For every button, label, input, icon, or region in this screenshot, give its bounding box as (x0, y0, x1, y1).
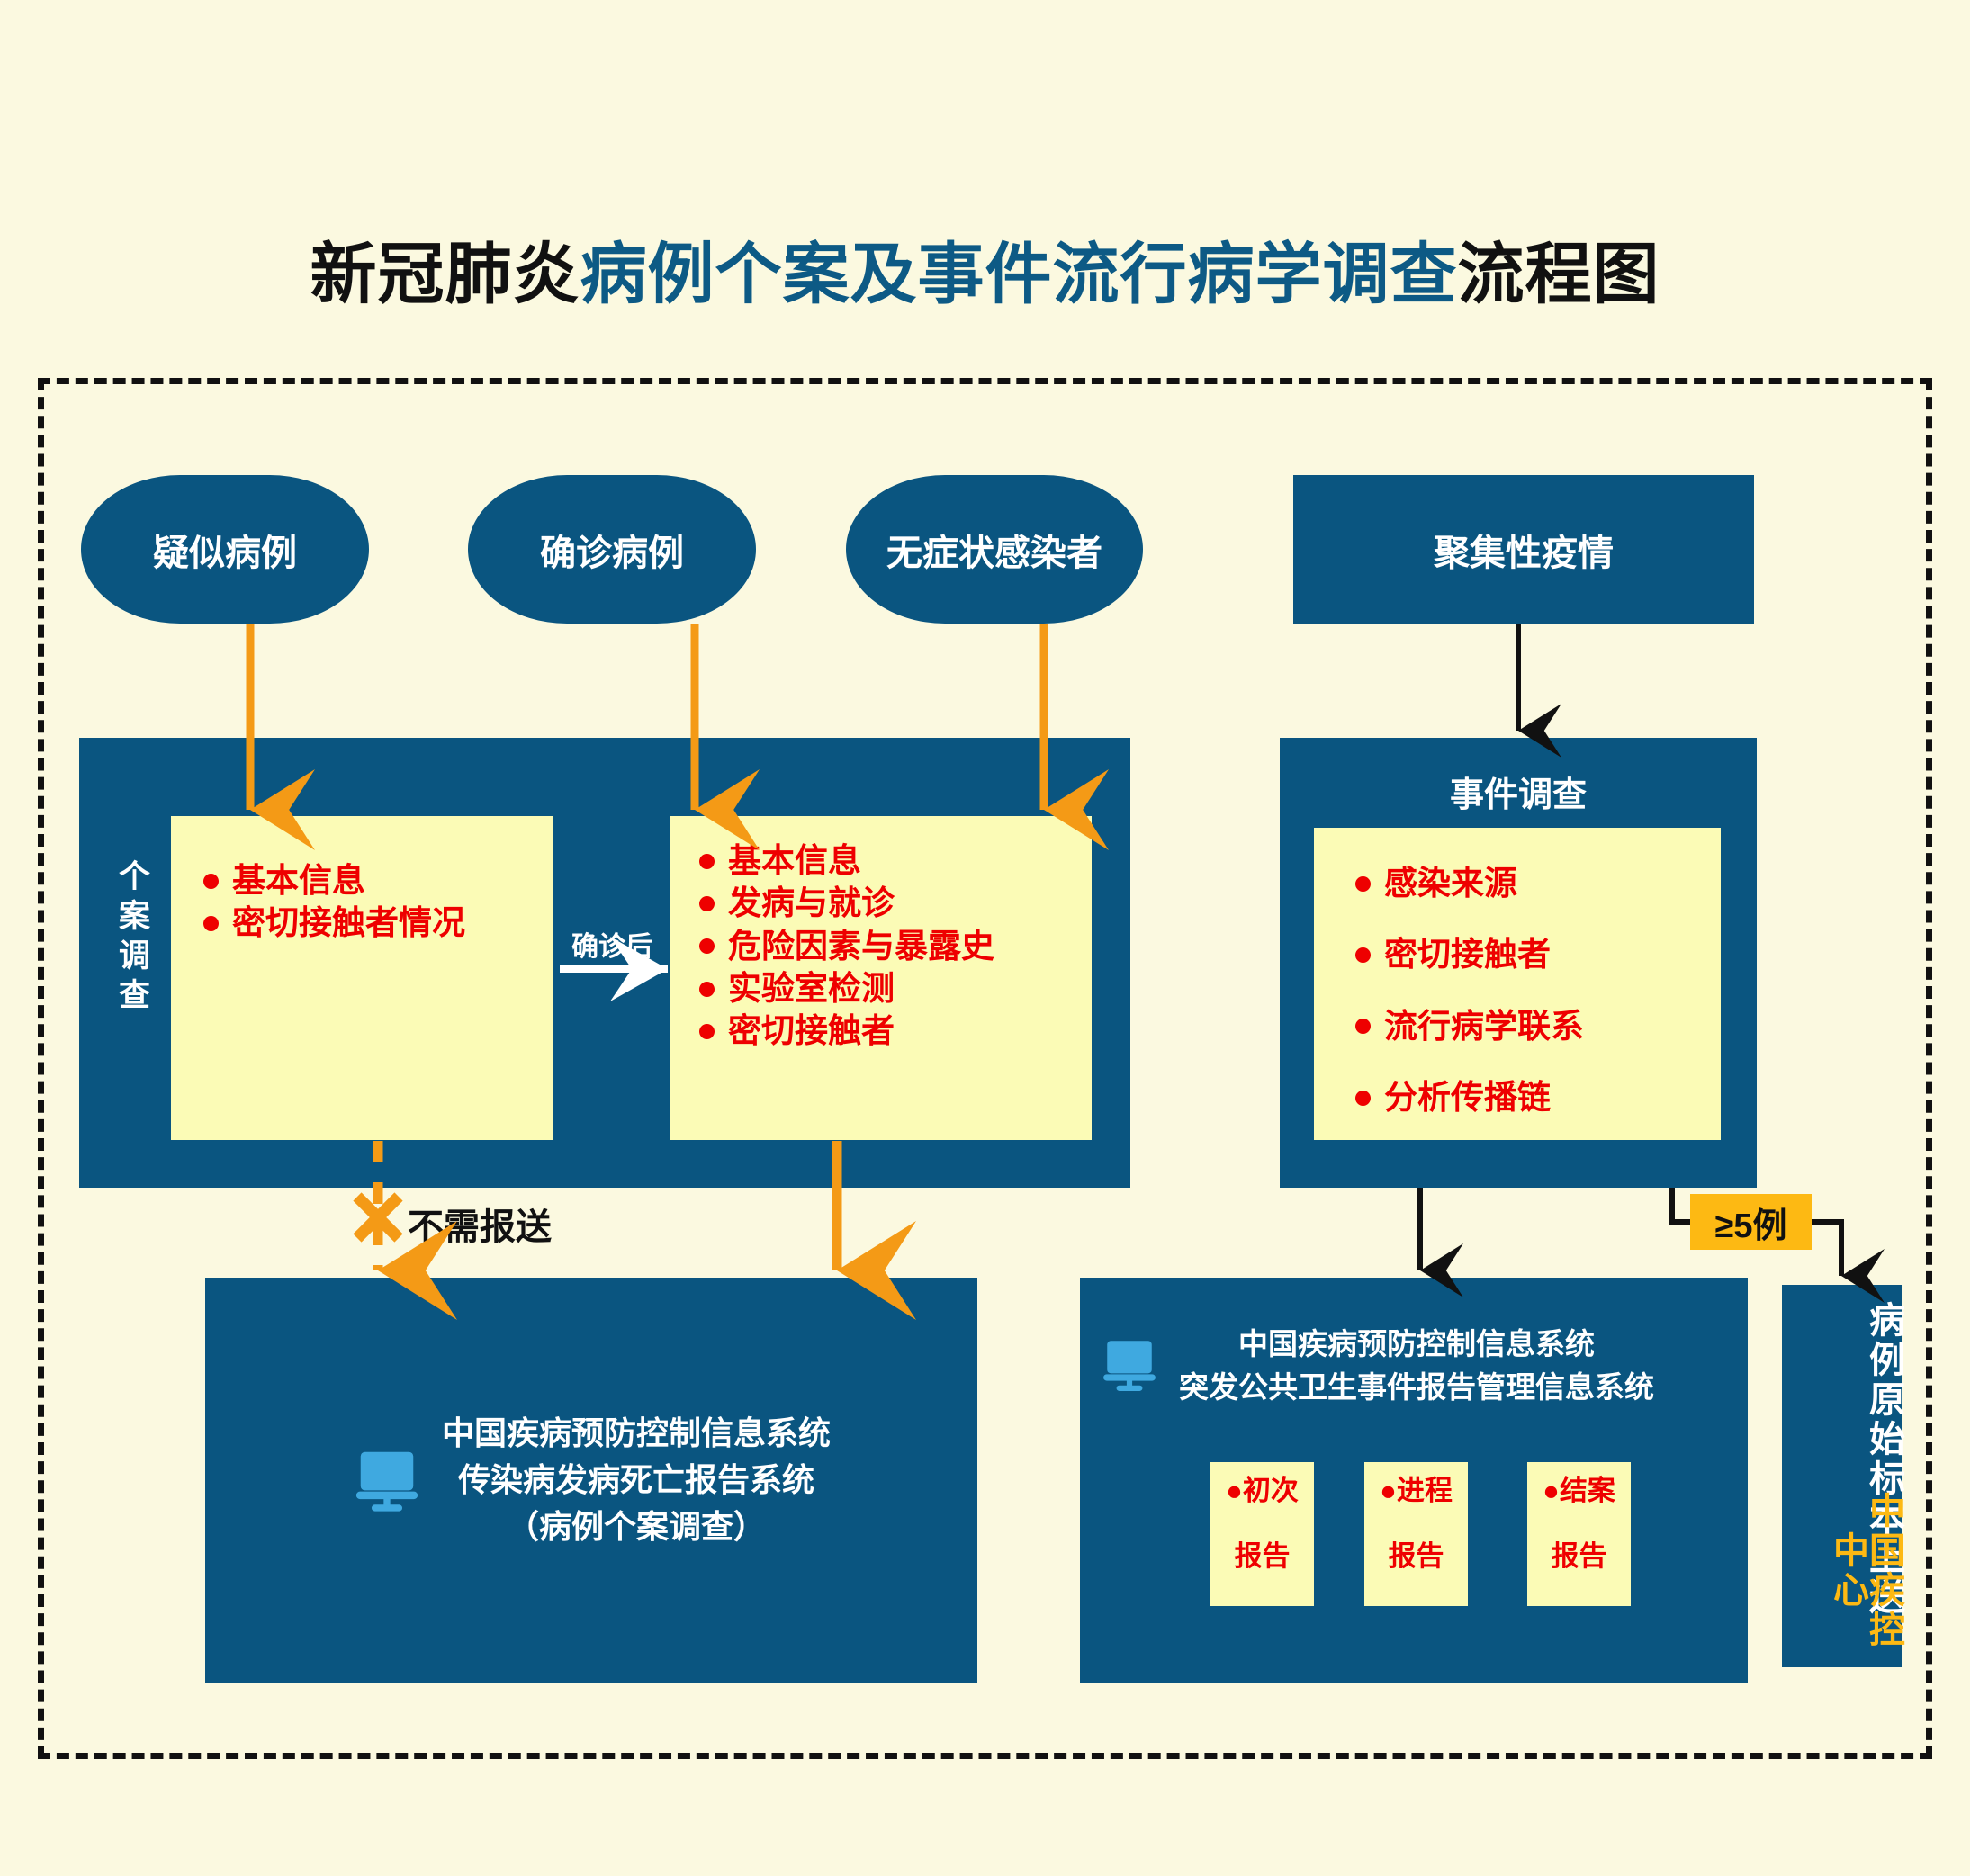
case-reporting-system-line-2: 传染病发病死亡报告系统 (458, 1461, 814, 1498)
report-card-closing[interactable]: ●结案 报告 (1527, 1462, 1631, 1606)
list-item: 密切接触者 (1354, 933, 1721, 975)
threshold-badge: ≥5例 (1690, 1194, 1812, 1250)
event-reporting-system-line-1: 中国疾病预防控制信息系统 (1238, 1327, 1595, 1360)
event-reporting-system-content: 中国疾病预防控制信息系统 突发公共卫生事件报告管理信息系统 (1100, 1323, 1654, 1409)
event-reporting-system-line-2: 突发公共卫生事件报告管理信息系统 (1179, 1370, 1654, 1404)
page-title: 新冠肺炎病例个案及事件流行病学调查流程图 (0, 220, 1970, 317)
list-item: 流行病学联系 (1354, 1005, 1721, 1047)
event-investigation-items: 感染来源 密切接触者 流行病学联系 分析传播链 (1354, 862, 1721, 1118)
node-asymptomatic-carrier[interactable]: 无症状感染者 (846, 475, 1143, 624)
report-card-progress[interactable]: ●进程 报告 (1364, 1462, 1468, 1606)
node-asymptomatic-carrier-label: 无症状感染者 (886, 524, 1102, 576)
report-card-initial-line-2: 报告 (1226, 1540, 1299, 1574)
no-report-note-label: 不需报送 (408, 1198, 552, 1250)
suspected-case-items: 基本信息 密切接触者情况 (202, 859, 553, 945)
event-investigation-title: 事件调查 (1280, 767, 1757, 816)
report-card-closing-text: ●结案 报告 (1543, 1475, 1615, 1574)
report-card-closing-line-1: ●结案 (1543, 1475, 1615, 1508)
node-confirmed-case[interactable]: 确诊病例 (468, 475, 756, 624)
node-cluster-outbreak[interactable]: 聚集性疫情 (1293, 475, 1754, 624)
specimen-upload-gold-text: 中国疾控中心 (1782, 1474, 1902, 1667)
case-reporting-system-text: 中国疾病预防控制信息系统 传染病发病死亡报告系统 （病例个案调查） (442, 1410, 831, 1551)
node-cluster-outbreak-label: 聚集性疫情 (1434, 524, 1614, 576)
list-item: 发病与就诊 (697, 882, 1092, 924)
title-part-3: 流程图 (1458, 237, 1660, 311)
suspected-case-detail-box: 基本信息 密切接触者情况 (171, 816, 553, 1140)
report-card-initial-line-1: ●初次 (1226, 1475, 1299, 1508)
list-item: 感染来源 (1354, 862, 1721, 904)
monitor-icon (1100, 1333, 1159, 1397)
node-suspected-case-label: 疑似病例 (153, 524, 297, 576)
confirmed-case-detail-box: 基本信息 发病与就诊 危险因素与暴露史 实验室检测 密切接触者 (670, 816, 1092, 1140)
node-suspected-case[interactable]: 疑似病例 (81, 475, 369, 624)
case-reporting-system-line-3: （病例个案调查） (507, 1508, 766, 1545)
list-item: 基本信息 (202, 859, 553, 902)
report-card-initial[interactable]: ●初次 报告 (1210, 1462, 1314, 1606)
specimen-upload-column[interactable]: 病例原始标本上送 中国疾控中心 (1782, 1285, 1902, 1667)
report-card-initial-text: ●初次 报告 (1226, 1475, 1299, 1574)
list-item: 危险因素与暴露史 (697, 925, 1092, 967)
report-card-progress-text: ●进程 报告 (1380, 1475, 1453, 1574)
confirmed-case-items: 基本信息 发病与就诊 危险因素与暴露史 实验室检测 密切接触者 (697, 839, 1092, 1053)
list-item: 分析传播链 (1354, 1076, 1721, 1118)
list-item: 基本信息 (697, 839, 1092, 882)
list-item: 实验室检测 (697, 967, 1092, 1010)
report-card-progress-line-2: 报告 (1380, 1540, 1453, 1574)
list-item: 密切接触者情况 (202, 902, 553, 944)
report-card-progress-line-1: ●进程 (1380, 1475, 1453, 1508)
report-card-closing-line-2: 报告 (1543, 1540, 1615, 1574)
list-item: 密切接触者 (697, 1010, 1092, 1052)
monitor-icon (352, 1443, 422, 1518)
event-reporting-system-text: 中国疾病预防控制信息系统 突发公共卫生事件报告管理信息系统 (1179, 1323, 1654, 1409)
event-investigation-detail-box: 感染来源 密切接触者 流行病学联系 分析传播链 (1314, 828, 1721, 1140)
case-investigation-side-label: 个案调查 (108, 859, 148, 1018)
node-confirmed-case-label: 确诊病例 (540, 524, 684, 576)
transition-label-after-confirmation: 确诊后 (571, 924, 652, 964)
case-reporting-system-content: 中国疾病预防控制信息系统 传染病发病死亡报告系统 （病例个案调查） (205, 1278, 977, 1683)
title-part-1: 新冠肺炎 (310, 237, 580, 311)
case-reporting-system-line-1: 中国疾病预防控制信息系统 (442, 1414, 831, 1451)
title-part-2: 病例个案及事件流行病学调查 (580, 237, 1458, 311)
